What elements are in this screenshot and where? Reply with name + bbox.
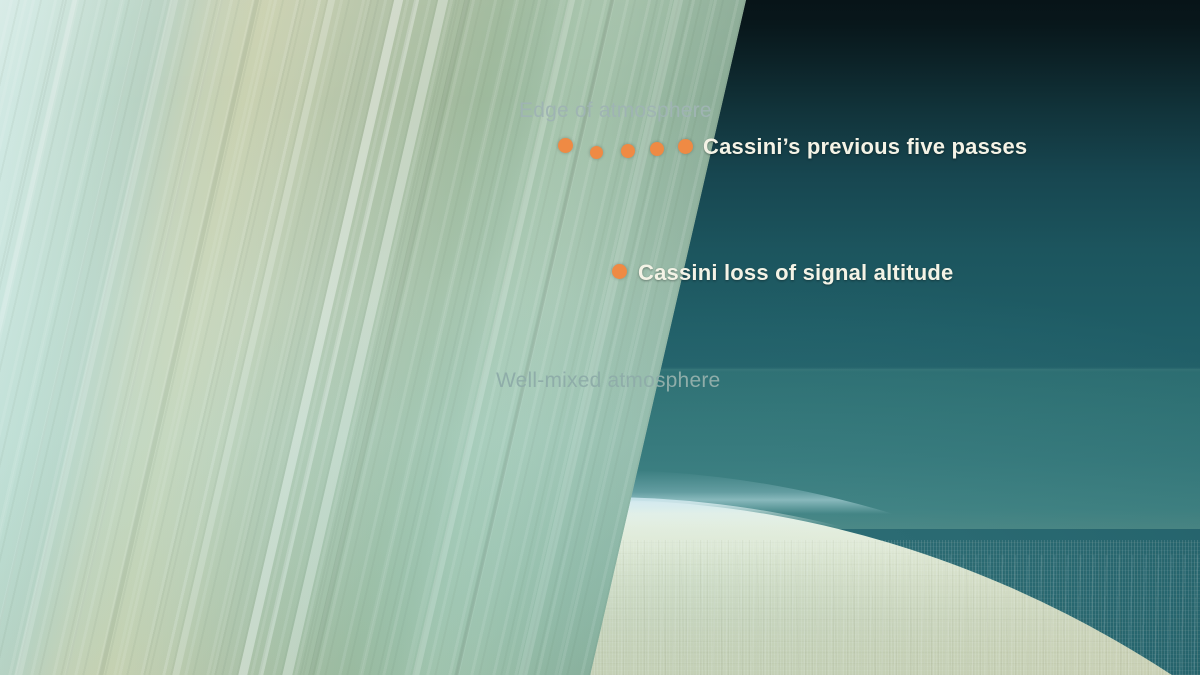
well-mixed-atmosphere-label: Well-mixed atmosphere	[496, 369, 720, 393]
previous-pass-dot-3	[621, 144, 635, 158]
previous-pass-dot-4	[650, 142, 664, 156]
previous-pass-dot-5	[678, 139, 693, 154]
previous-pass-dot-2	[590, 146, 603, 159]
scene-canvas: Edge of atmosphere Cassini’s previous fi…	[0, 0, 1200, 675]
loss-of-signal-label: Cassini loss of signal altitude	[638, 260, 954, 286]
previous-passes-label: Cassini’s previous five passes	[703, 134, 1027, 160]
edge-of-atmosphere-label: Edge of atmosphere	[519, 99, 712, 123]
previous-pass-dot-1	[558, 138, 573, 153]
loss-of-signal-dot-1	[612, 264, 627, 279]
